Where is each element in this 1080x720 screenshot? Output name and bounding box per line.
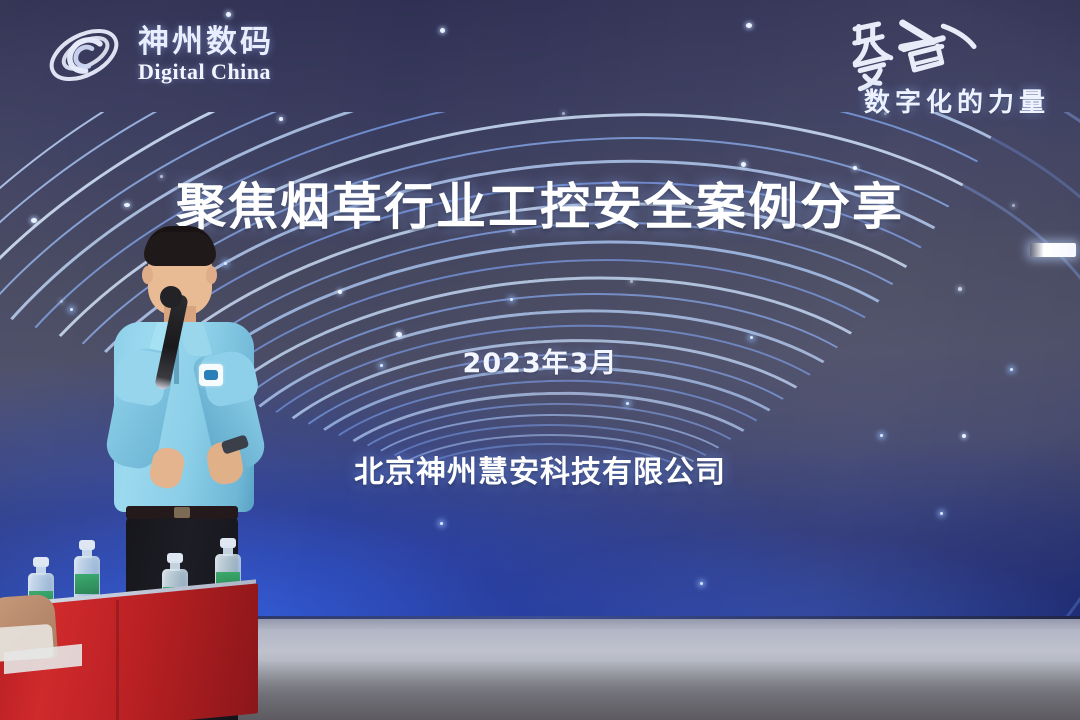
brand-name-cn: 神州数码 — [138, 26, 274, 59]
table-skirt-fold — [116, 600, 119, 720]
digital-china-logo: 神州数码 Digital China — [44, 20, 274, 90]
event-tagline: 数字化的力量 — [864, 82, 1050, 119]
brand-name-en: Digital China — [138, 59, 274, 84]
speaker-belt-buckle — [174, 507, 190, 518]
speaker-shirt-logo — [199, 364, 223, 386]
conference-stage-photo: 聚焦烟草行业工控安全案例分享 2023年3月 北京神州慧安科技有限公司 神州数码… — [0, 0, 1080, 720]
juhe-calligraphy-icon — [844, 6, 982, 93]
speaker-ear-left — [142, 266, 153, 284]
digital-china-swirl-icon — [44, 20, 124, 90]
digital-china-wordmark: 神州数码 Digital China — [138, 26, 274, 85]
screen-light-streak — [1030, 243, 1076, 257]
bottle-label — [75, 574, 99, 594]
slide-title: 聚焦烟草行业工控安全案例分享 — [0, 182, 1080, 232]
event-logo: 数字化的力量 — [814, 14, 1064, 119]
speaker-ear-right — [206, 266, 217, 284]
speaker-hair-top — [144, 232, 216, 266]
speaker-person — [96, 226, 286, 626]
